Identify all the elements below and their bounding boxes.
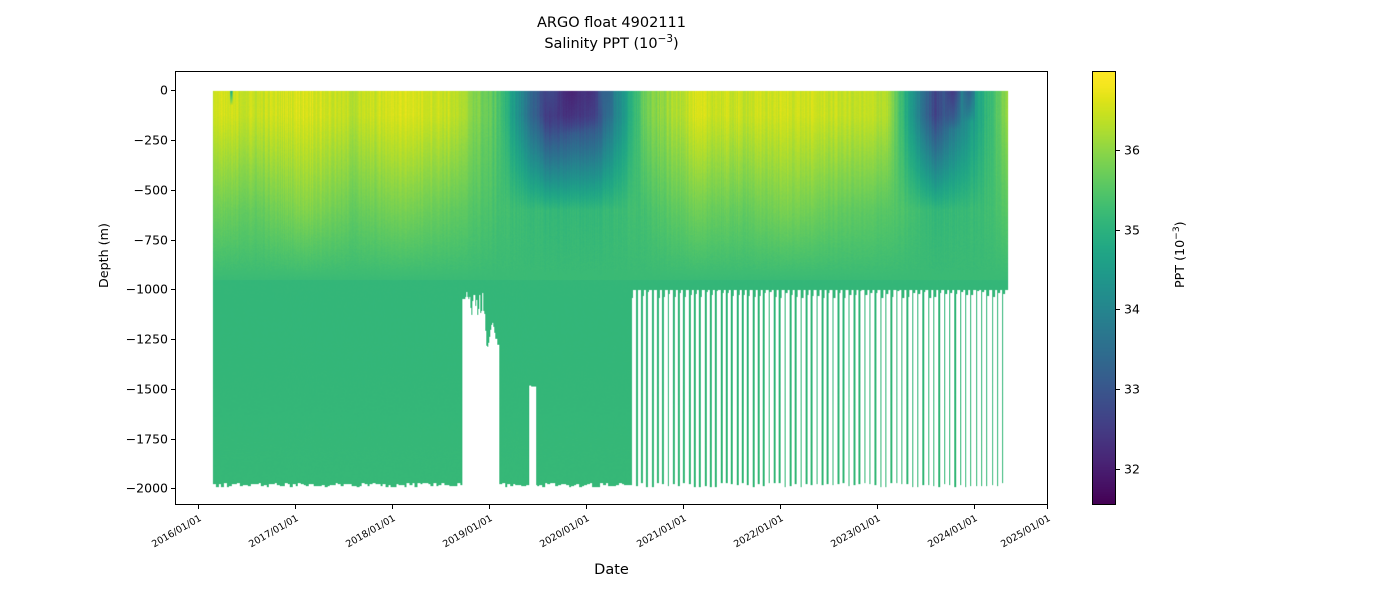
x-tick-mark (489, 505, 490, 509)
y-tick-mark (171, 90, 175, 91)
colorbar-tick-label: 35 (1124, 223, 1140, 238)
colorbar-label-prefix: PPT (10 (1172, 240, 1187, 288)
y-tick-label: −750 (134, 233, 168, 248)
subtitle-prefix: Salinity PPT (10 (544, 36, 657, 52)
chart-subtitle: Salinity PPT (10−3) (175, 33, 1048, 54)
y-axis-label: Depth (m) (96, 223, 111, 288)
colorbar-tick-mark (1116, 469, 1120, 470)
x-tick-mark (198, 505, 199, 509)
x-tick-label: 2020/01/01 (537, 513, 592, 551)
y-tick-label: −1250 (126, 332, 168, 347)
y-tick-mark (171, 339, 175, 340)
colorbar-label: PPT (10−3) (1172, 221, 1187, 288)
page-title: ARGO float 4902111 (175, 14, 1048, 33)
subtitle-exponent: −3 (658, 33, 673, 45)
colorbar-tick-label: 34 (1124, 302, 1140, 317)
colorbar (1092, 71, 1116, 505)
y-tick-label: 0 (160, 83, 168, 98)
x-tick-mark (392, 505, 393, 509)
y-tick-label: −250 (134, 133, 168, 148)
x-tick-mark (586, 505, 587, 509)
x-axis-label: Date (175, 562, 1048, 578)
y-tick-label: −500 (134, 183, 168, 198)
y-tick-mark (171, 389, 175, 390)
x-tick-label: 2016/01/01 (149, 513, 204, 551)
x-tick-label: 2021/01/01 (634, 513, 689, 551)
colorbar-tick-label: 32 (1124, 462, 1140, 477)
colorbar-tick-mark (1116, 150, 1120, 151)
x-tick-mark (1047, 505, 1048, 509)
y-tick-label: −1750 (126, 432, 168, 447)
y-tick-mark (171, 289, 175, 290)
x-tick-label: 2019/01/01 (440, 513, 495, 551)
y-tick-label: −1500 (126, 382, 168, 397)
y-tick-mark (171, 439, 175, 440)
x-tick-mark (974, 505, 975, 509)
x-tick-label: 2018/01/01 (343, 513, 398, 551)
salinity-heatmap (176, 72, 1047, 504)
x-tick-label: 2024/01/01 (925, 513, 980, 551)
colorbar-tick-mark (1116, 389, 1120, 390)
colorbar-tick-mark (1116, 309, 1120, 310)
colorbar-tick-mark (1116, 230, 1120, 231)
figure-canvas: ARGO float 4902111 Salinity PPT (10−3) D… (0, 0, 1400, 600)
colorbar-label-exponent: −3 (1172, 226, 1182, 239)
chart-title-block: ARGO float 4902111 Salinity PPT (10−3) (175, 14, 1048, 54)
y-tick-mark (171, 488, 175, 489)
y-tick-label: −1000 (126, 282, 168, 297)
colorbar-label-suffix: ) (1172, 221, 1187, 226)
y-tick-label: −2000 (126, 481, 168, 496)
colorbar-tick-label: 36 (1124, 143, 1140, 158)
x-tick-label: 2017/01/01 (246, 513, 301, 551)
colorbar-tick-label: 33 (1124, 382, 1140, 397)
x-tick-mark (780, 505, 781, 509)
y-tick-mark (171, 190, 175, 191)
x-tick-label: 2022/01/01 (731, 513, 786, 551)
x-tick-mark (683, 505, 684, 509)
x-tick-label: 2023/01/01 (828, 513, 883, 551)
colorbar-gradient (1093, 72, 1115, 504)
x-tick-mark (877, 505, 878, 509)
y-tick-mark (171, 240, 175, 241)
x-tick-mark (295, 505, 296, 509)
x-tick-label: 2025/01/01 (998, 513, 1053, 551)
plot-axes (175, 71, 1048, 505)
y-tick-mark (171, 140, 175, 141)
subtitle-suffix: ) (673, 36, 679, 52)
